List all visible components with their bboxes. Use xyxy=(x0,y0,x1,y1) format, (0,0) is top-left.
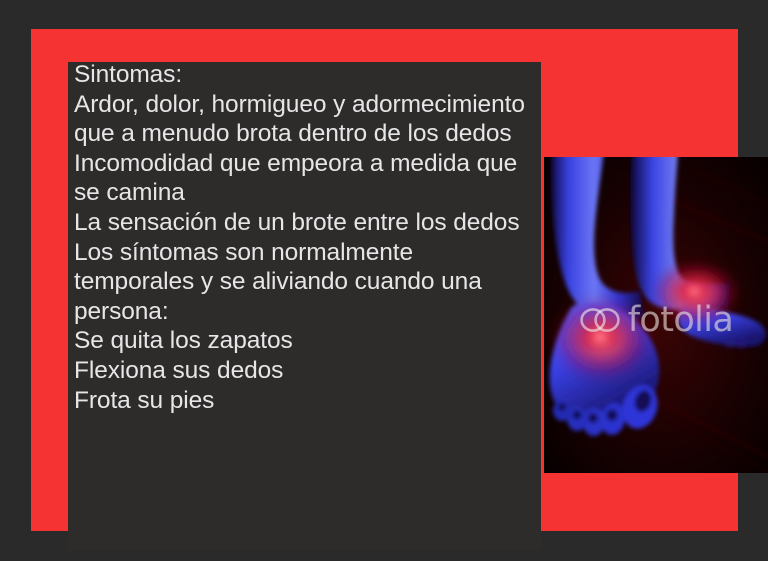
list-item: Frota su pies xyxy=(74,386,541,416)
list-item: Los síntomas son normalmente xyxy=(74,238,541,268)
list-item: Sintomas: xyxy=(74,62,541,90)
slide-canvas: Sintomas: Ardor, dolor, hormigueo y ador… xyxy=(0,0,768,561)
list-item: Se quita los zapatos xyxy=(74,326,541,356)
symptoms-list: Sintomas: Ardor, dolor, hormigueo y ador… xyxy=(74,62,541,415)
list-item: persona: xyxy=(74,297,541,327)
list-item: La sensación de un brote entre los dedos xyxy=(74,208,541,238)
list-item: se camina xyxy=(74,178,541,208)
feet-xray-illustration-icon xyxy=(544,157,768,473)
list-item: Ardor, dolor, hormigueo y adormecimiento xyxy=(74,90,541,120)
symptoms-textbox: Sintomas: Ardor, dolor, hormigueo y ador… xyxy=(68,62,541,550)
feet-xray-photo: fotolia xyxy=(544,157,768,473)
list-item: Incomodidad que empeora a medida que xyxy=(74,149,541,179)
list-item: temporales y se aliviando cuando una xyxy=(74,267,541,297)
list-item: que a menudo brota dentro de los dedos xyxy=(74,119,541,149)
list-item: Flexiona sus dedos xyxy=(74,356,541,386)
red-slide: Sintomas: Ardor, dolor, hormigueo y ador… xyxy=(31,29,738,531)
